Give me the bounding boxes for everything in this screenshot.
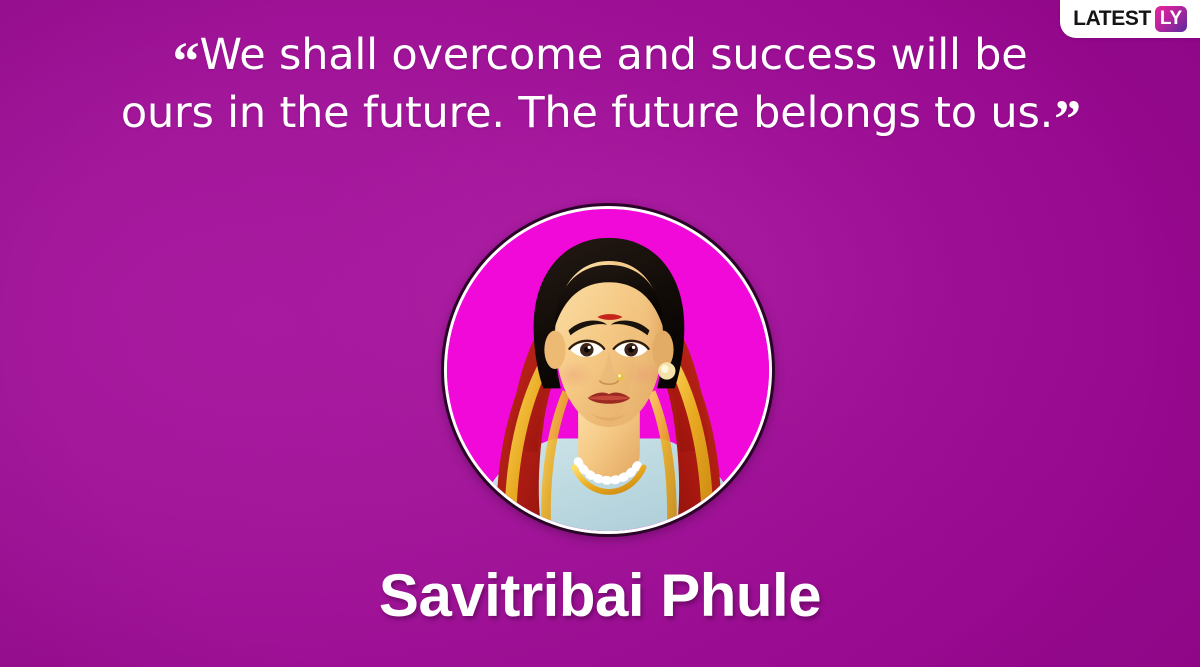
- open-quote-icon: “: [172, 31, 197, 91]
- close-quote-icon: ”: [1054, 89, 1079, 149]
- quote-card: LATEST LY “We shall overcome and success…: [0, 0, 1200, 667]
- portrait-image: [447, 209, 769, 531]
- quote-block: “We shall overcome and success will be o…: [0, 26, 1200, 143]
- portrait-ring: [444, 206, 772, 534]
- portrait-illustration: [447, 209, 769, 531]
- portrait-frame: [441, 203, 775, 537]
- quote-text: We shall overcome and success will be ou…: [121, 30, 1053, 138]
- attribution-name: Savitribai Phule: [0, 566, 1200, 626]
